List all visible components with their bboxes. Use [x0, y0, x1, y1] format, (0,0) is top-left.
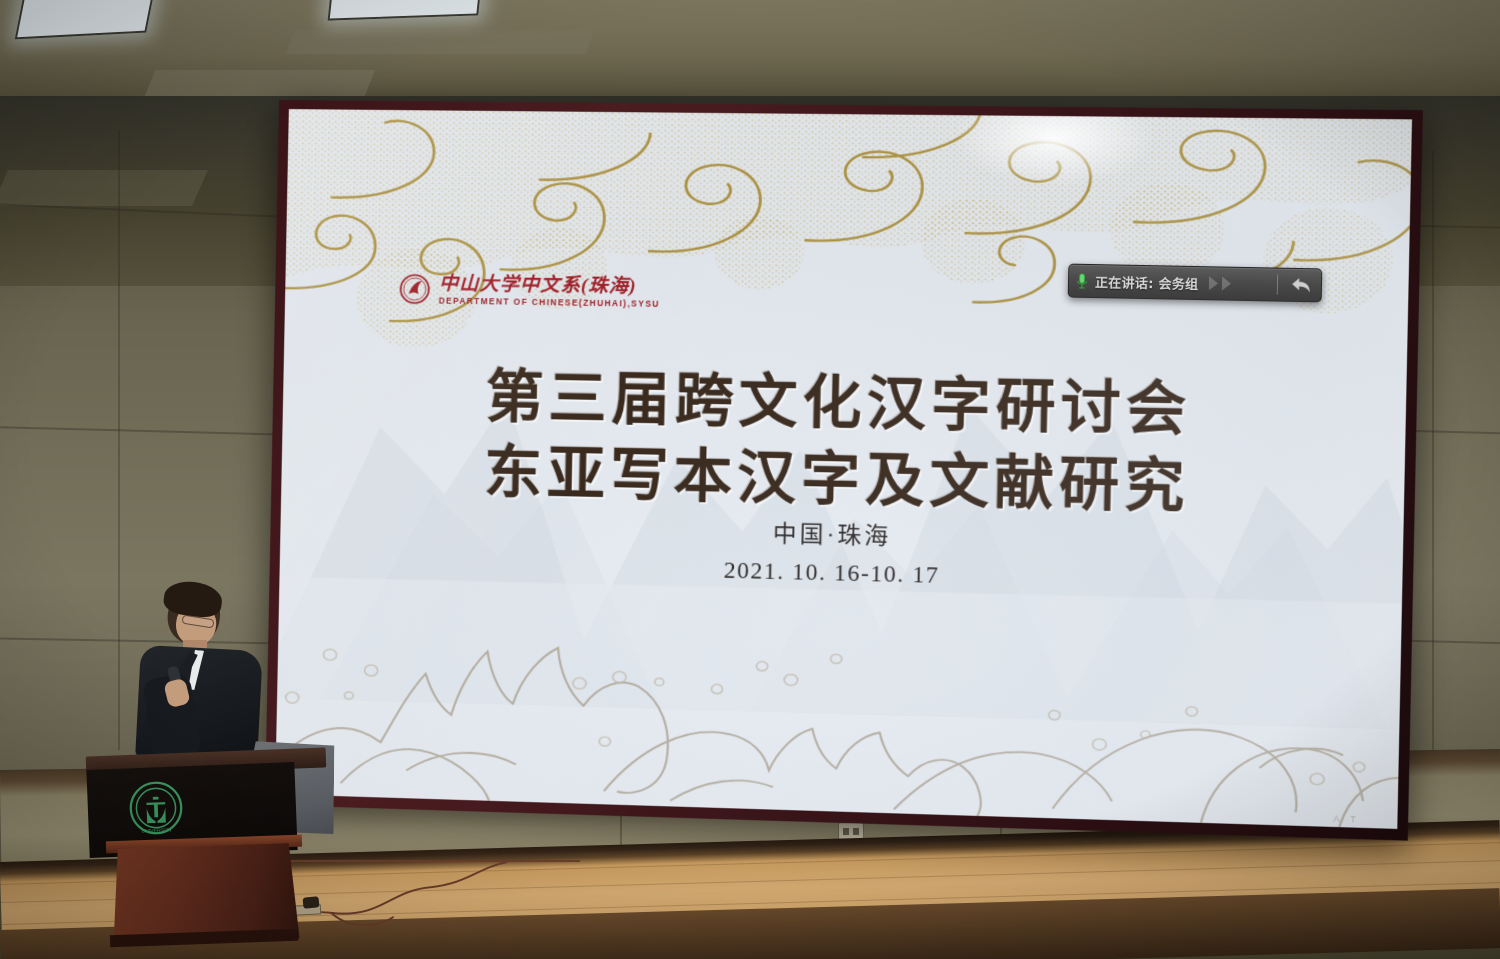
bar-separator — [1277, 275, 1278, 295]
podium-and-speaker: UNIVERSITY — [86, 580, 326, 940]
double-chevron-icon — [1209, 276, 1231, 290]
sysu-university-emblem: UNIVERSITY — [127, 779, 185, 837]
ceiling-strip — [286, 30, 595, 54]
speaking-status-bar[interactable]: 正在讲话: 会务组 — [1068, 264, 1323, 303]
ceiling-light — [15, 0, 156, 39]
microphone-icon — [1076, 272, 1088, 289]
logo-text-cn: 中山大学中文系(珠海) — [439, 274, 661, 297]
wall-seam — [1432, 150, 1434, 850]
ceiling-strip — [145, 70, 376, 96]
sysu-seal-icon — [399, 274, 430, 305]
conference-title: 第三届跨文化汉字研讨会 东亚写本汉字及文献研究 — [281, 356, 1407, 532]
ceiling-strip — [0, 170, 208, 206]
reply-arrow-icon[interactable] — [1290, 276, 1312, 294]
wave-decoration — [275, 602, 1401, 829]
svg-text:UNIVERSITY: UNIVERSITY — [141, 828, 173, 835]
screen-frame: 中山大学中文系(珠海) DEPARTMENT OF CHINESE(ZHUHAI… — [265, 100, 1423, 841]
department-logo: 中山大学中文系(珠海) DEPARTMENT OF CHINESE(ZHUHAI… — [399, 274, 660, 309]
ceiling-light — [328, 0, 483, 21]
screen-surface: 中山大学中文系(珠海) DEPARTMENT OF CHINESE(ZHUHAI… — [275, 109, 1412, 829]
led-screen[interactable]: 中山大学中文系(珠海) DEPARTMENT OF CHINESE(ZHUHAI… — [265, 100, 1423, 841]
conference-hall-scene: 中山大学中文系(珠海) DEPARTMENT OF CHINESE(ZHUHAI… — [0, 0, 1500, 959]
speaking-label: 正在讲话: 会务组 — [1095, 272, 1199, 293]
screen-brand-mark: A T — [1333, 814, 1360, 825]
